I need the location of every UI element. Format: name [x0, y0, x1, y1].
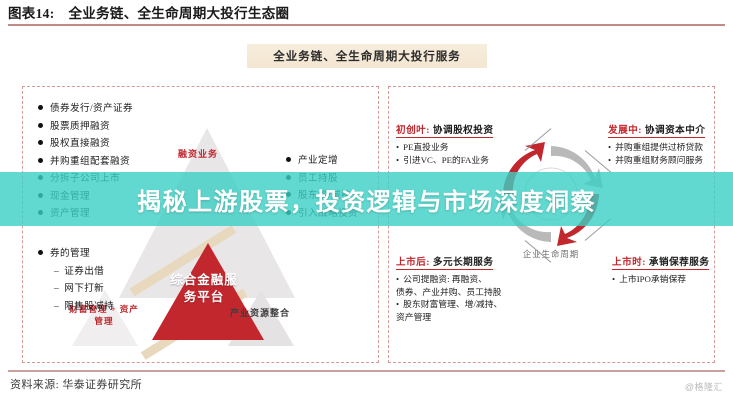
stage-heading: 发展中: 协调资本中介: [608, 122, 705, 138]
list-item: 股东财富管理、增/减持、: [396, 298, 534, 311]
list-item: 股票质押融资: [38, 118, 133, 136]
triangle-apex-label: 融资业务: [175, 148, 221, 160]
list-item-label: 证券出借: [64, 266, 104, 277]
stage-key: 上市后:: [396, 257, 430, 268]
stage-key: 初创叶:: [396, 125, 430, 136]
stage-key: 上市时:: [612, 257, 646, 268]
list-item-label: 网下打新: [64, 283, 104, 294]
list-item: 并购重组财务顾问服务: [608, 154, 730, 167]
list-item-label: 产业定增: [298, 152, 338, 170]
list-item: 债券发行/资产证券: [38, 100, 133, 118]
dash-icon: –: [54, 283, 59, 294]
triangle-core-label: 综合金融服务平台: [168, 272, 240, 306]
list-item: 产业定增: [286, 152, 358, 170]
list-item-label: 股权直接融资: [50, 135, 110, 153]
footer-divider: [8, 370, 725, 372]
bullet-dot-icon: [38, 123, 43, 128]
bullet-dot-icon: [286, 157, 291, 162]
figure-number: 图表14:: [8, 6, 55, 21]
list-item: –证券出借: [54, 263, 114, 281]
figure-source: 资料来源: 华泰证券研究所: [10, 376, 142, 392]
title-divider: [8, 24, 725, 26]
stage-heading: 上市后: 多元长期服务: [396, 254, 493, 270]
corner-watermark: @格隆汇: [685, 380, 723, 393]
figure-title-text: 全业务链、全生命周期大投行生态圈: [69, 6, 290, 21]
stage-title: 协调资本中介: [645, 125, 706, 136]
bullet-dot-icon: [38, 105, 43, 110]
stage-heading: 初创叶: 协调股权投资: [396, 122, 493, 138]
list-item: 公司提融资: 再融资、: [396, 273, 534, 286]
bullet-dot-icon: [38, 140, 43, 145]
stage-section-post-listing: 上市后: 多元长期服务 公司提融资: 再融资、 债券、产业并购、员工持股 股东财…: [396, 252, 534, 323]
stage-title: 承销保荐服务: [649, 257, 710, 268]
figure-title: 图表14:全业务链、全生命周期大投行生态圈: [8, 2, 725, 22]
list-item: PE直投业务: [396, 141, 526, 154]
list-item: 资产管理: [396, 311, 534, 324]
figure-page: 图表14:全业务链、全生命周期大投行生态圈 全业务链、全生命周期大投行服务 融资…: [0, 0, 733, 400]
stage-section-growth: 发展中: 协调资本中介 并购重组提供过桥贷款 并购重组财务顾问服务: [608, 120, 730, 166]
bullet-dot-icon: [38, 250, 43, 255]
stage-heading: 上市时: 承销保荐服务: [612, 254, 709, 270]
list-item: 债券、产业并购、员工持股: [396, 286, 534, 299]
list-item: 券的管理: [38, 245, 114, 263]
list-item: 并购重组提供过桥贷款: [608, 141, 730, 154]
dash-icon: –: [54, 266, 59, 277]
stage-section-startup: 初创叶: 协调股权投资 PE直投业务 引进VC、PE的FA业务: [396, 120, 526, 166]
securities-management-group: 券的管理 –证券出借 –网下打新 –限售股减持: [38, 245, 114, 315]
group-title: 券的管理: [50, 245, 90, 263]
list-item-label: 限售股减持: [64, 301, 114, 312]
list-item: 上市IPO承销保荐: [612, 273, 730, 286]
list-item: 股权直接融资: [38, 135, 133, 153]
stage-key: 发展中:: [608, 125, 642, 136]
list-item-label: 股票质押融资: [50, 118, 110, 136]
stage-title: 协调股权投资: [433, 125, 494, 136]
list-item: –限售股减持: [54, 298, 114, 316]
list-item-label: 并购重组配套融资: [50, 153, 130, 171]
stage-title: 多元长期服务: [433, 257, 494, 268]
triangle-corner-right-label: 产业资源整合: [225, 307, 295, 320]
diagram-banner: 全业务链、全生命周期大投行服务: [247, 44, 487, 68]
bullet-dot-icon: [38, 158, 43, 163]
list-item: 并购重组配套融资: [38, 153, 133, 171]
dash-icon: –: [54, 301, 59, 312]
list-item-label: 债券发行/资产证券: [50, 100, 133, 118]
overlay-headline: 揭秘上游股票，投资逻辑与市场深度洞察: [0, 172, 733, 226]
list-item: –网下打新: [54, 280, 114, 298]
stage-section-listing: 上市时: 承销保荐服务 上市IPO承销保荐: [612, 252, 730, 286]
list-item: 引进VC、PE的FA业务: [396, 154, 526, 167]
